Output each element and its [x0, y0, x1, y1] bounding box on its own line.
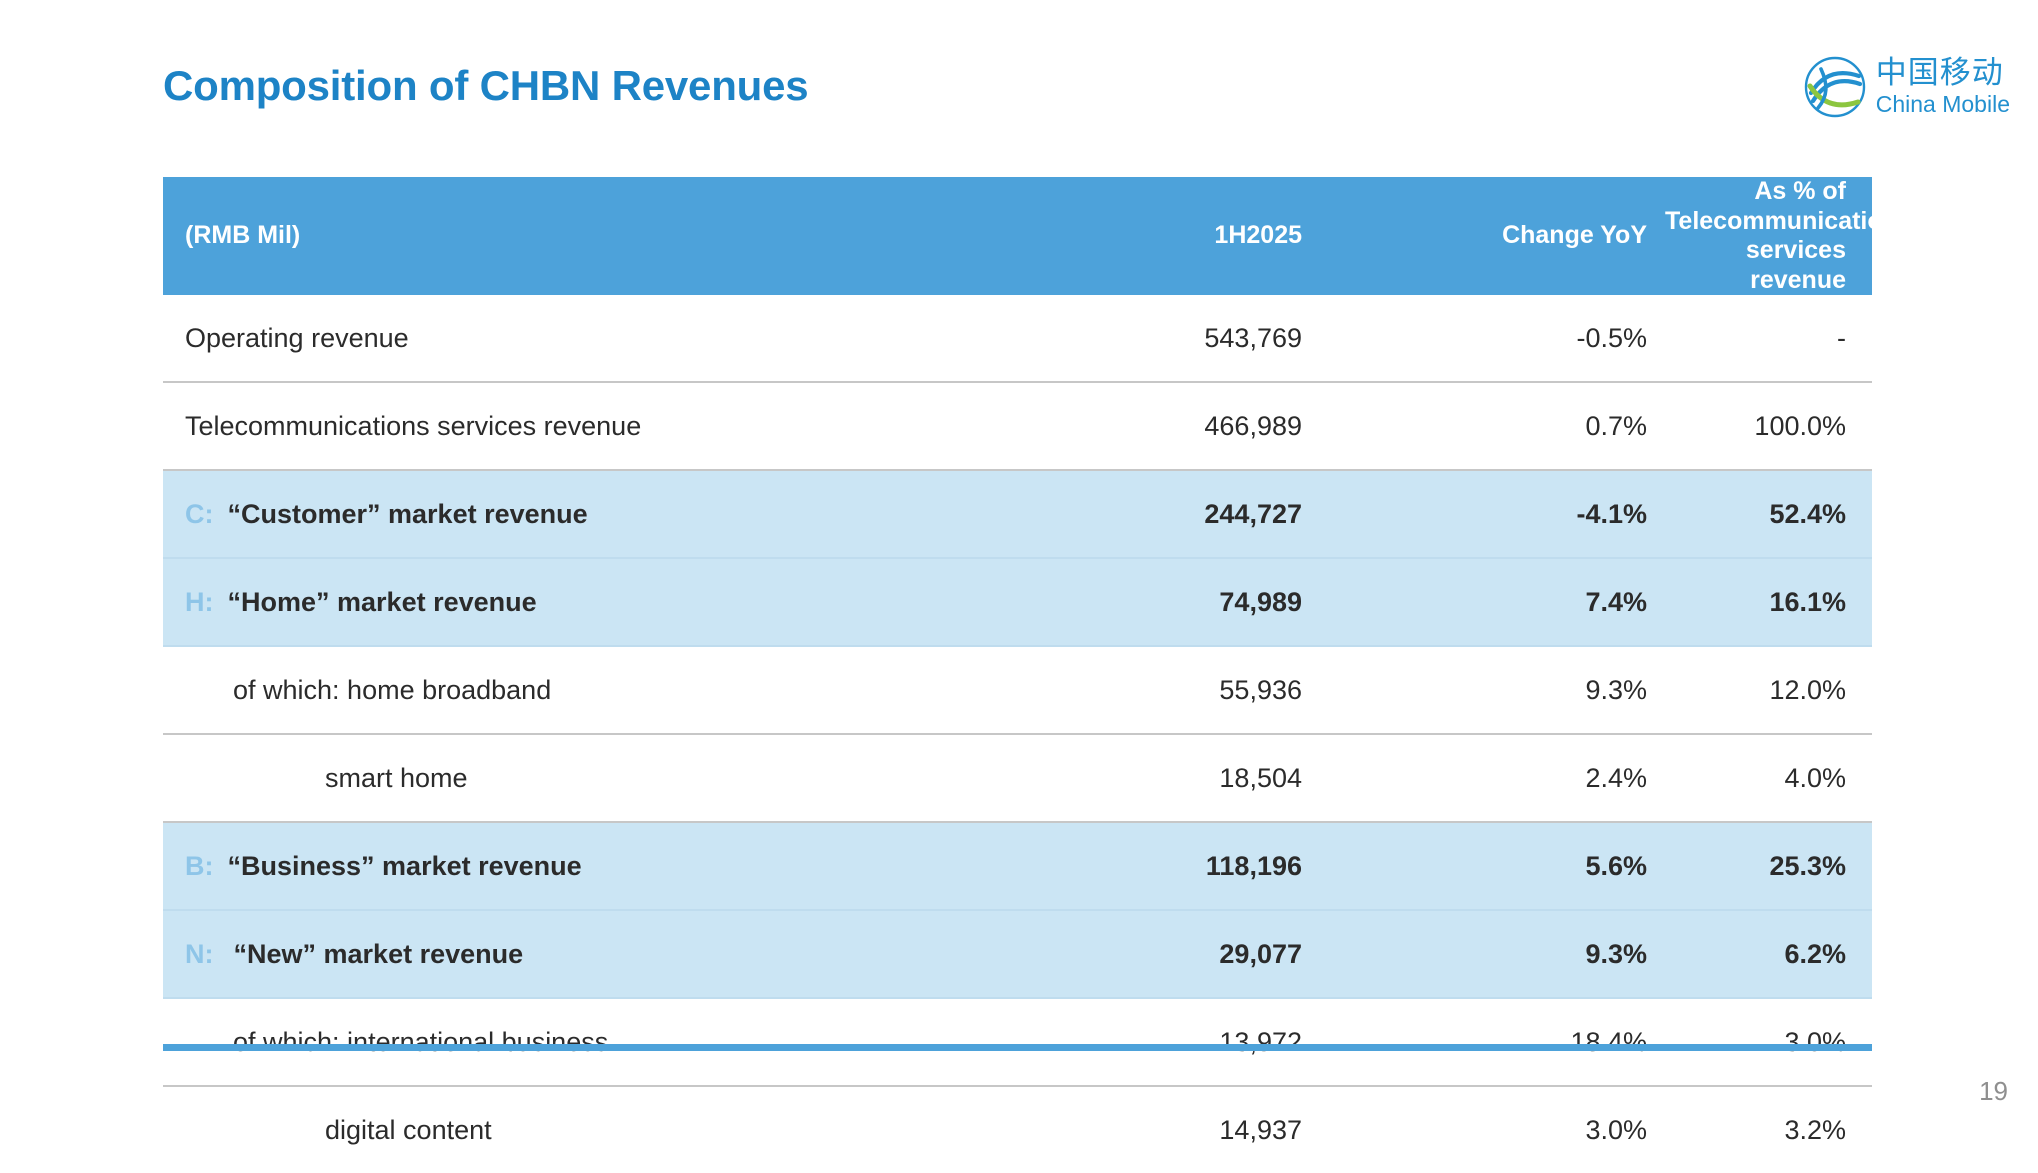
table-row: C:“Customer” market revenue244,727-4.1%5…	[163, 470, 1872, 558]
row-value-1h2025: 543,769	[975, 295, 1320, 382]
row-change-yoy: -0.5%	[1320, 295, 1665, 382]
row-label: of which: home broadband	[163, 646, 975, 734]
table-header-row: (RMB Mil) 1H2025 Change YoY As % of Tele…	[163, 177, 1872, 295]
table-row: of which: home broadband55,9369.3%12.0%	[163, 646, 1872, 734]
row-label-text: “Business” market revenue	[228, 851, 582, 881]
row-change-yoy: 9.3%	[1320, 646, 1665, 734]
row-percent-of-telecom-revenue: -	[1665, 295, 1872, 382]
row-label: N:“New” market revenue	[163, 910, 975, 998]
row-label-text: of which: home broadband	[233, 675, 551, 705]
table-bottom-accent-rule	[163, 1044, 1872, 1051]
table-row: Telecommunications services revenue466,9…	[163, 382, 1872, 470]
page-number: 19	[1979, 1076, 2008, 1107]
row-label-text: “Home” market revenue	[228, 587, 537, 617]
table-row: Operating revenue543,769-0.5%-	[163, 295, 1872, 382]
logo-wordmark: 中国移动 China Mobile	[1876, 58, 2010, 116]
row-percent-of-telecom-revenue: 4.0%	[1665, 734, 1872, 822]
page-title: Composition of CHBN Revenues	[163, 62, 808, 110]
row-value-1h2025: 18,504	[975, 734, 1320, 822]
china-mobile-logo: 中国移动 China Mobile	[1804, 56, 2010, 118]
column-header-label: (RMB Mil)	[163, 177, 975, 295]
table-row: digital content14,9373.0%3.2%	[163, 1086, 1872, 1173]
chbn-key-letter: N:	[185, 939, 214, 969]
row-label: of which: international business	[163, 998, 975, 1086]
column-header-percent-of-telecom-revenue: As % of Telecommunications services reve…	[1665, 177, 1872, 295]
table-row: N:“New” market revenue29,0779.3%6.2%	[163, 910, 1872, 998]
row-value-1h2025: 74,989	[975, 558, 1320, 646]
table-row: smart home18,5042.4%4.0%	[163, 734, 1872, 822]
row-value-1h2025: 13,972	[975, 998, 1320, 1086]
row-percent-of-telecom-revenue: 52.4%	[1665, 470, 1872, 558]
china-mobile-swirl-icon	[1804, 56, 1866, 118]
row-percent-of-telecom-revenue: 3.2%	[1665, 1086, 1872, 1173]
row-label-text: Telecommunications services revenue	[185, 411, 641, 441]
row-change-yoy: 18.4%	[1320, 998, 1665, 1086]
row-percent-of-telecom-revenue: 6.2%	[1665, 910, 1872, 998]
row-value-1h2025: 14,937	[975, 1086, 1320, 1173]
row-label-text: of which: international business	[233, 1027, 608, 1057]
row-percent-of-telecom-revenue: 3.0%	[1665, 998, 1872, 1086]
row-value-1h2025: 118,196	[975, 822, 1320, 910]
row-label: B:“Business” market revenue	[163, 822, 975, 910]
row-change-yoy: 0.7%	[1320, 382, 1665, 470]
row-percent-of-telecom-revenue: 100.0%	[1665, 382, 1872, 470]
table-row: H:“Home” market revenue74,9897.4%16.1%	[163, 558, 1872, 646]
column-header-period: 1H2025	[975, 177, 1320, 295]
row-label: H:“Home” market revenue	[163, 558, 975, 646]
row-label: Telecommunications services revenue	[163, 382, 975, 470]
row-percent-of-telecom-revenue: 12.0%	[1665, 646, 1872, 734]
row-value-1h2025: 55,936	[975, 646, 1320, 734]
logo-english-name: China Mobile	[1876, 93, 2010, 116]
column-header-percent-line3: services revenue	[1746, 236, 1846, 294]
row-change-yoy: 2.4%	[1320, 734, 1665, 822]
row-label: Operating revenue	[163, 295, 975, 382]
chbn-key-letter: C:	[185, 499, 214, 529]
column-header-percent-line2: Telecommunications	[1665, 207, 1912, 235]
row-label: smart home	[163, 734, 975, 822]
row-value-1h2025: 466,989	[975, 382, 1320, 470]
row-label: digital content	[163, 1086, 975, 1173]
table-row: B:“Business” market revenue118,1965.6%25…	[163, 822, 1872, 910]
logo-chinese-name: 中国移动	[1876, 58, 2010, 89]
row-value-1h2025: 244,727	[975, 470, 1320, 558]
chbn-key-letter: H:	[185, 587, 214, 617]
row-change-yoy: 9.3%	[1320, 910, 1665, 998]
row-change-yoy: -4.1%	[1320, 470, 1665, 558]
row-value-1h2025: 29,077	[975, 910, 1320, 998]
row-change-yoy: 5.6%	[1320, 822, 1665, 910]
row-change-yoy: 3.0%	[1320, 1086, 1665, 1173]
row-label-text: “New” market revenue	[234, 939, 524, 969]
table-body: Operating revenue543,769-0.5%-Telecommun…	[163, 295, 1872, 1173]
column-header-change-yoy: Change YoY	[1320, 177, 1665, 295]
table-row: of which: international business13,97218…	[163, 998, 1872, 1086]
column-header-percent-line1: As % of	[1754, 177, 1846, 205]
row-label-text: digital content	[325, 1115, 492, 1145]
chbn-key-letter: B:	[185, 851, 214, 881]
row-label-text: smart home	[325, 763, 468, 793]
row-change-yoy: 7.4%	[1320, 558, 1665, 646]
row-percent-of-telecom-revenue: 25.3%	[1665, 822, 1872, 910]
row-percent-of-telecom-revenue: 16.1%	[1665, 558, 1872, 646]
row-label-text: Operating revenue	[185, 323, 409, 353]
row-label-text: “Customer” market revenue	[228, 499, 588, 529]
revenue-composition-table: (RMB Mil) 1H2025 Change YoY As % of Tele…	[163, 177, 1872, 1173]
row-label: C:“Customer” market revenue	[163, 470, 975, 558]
